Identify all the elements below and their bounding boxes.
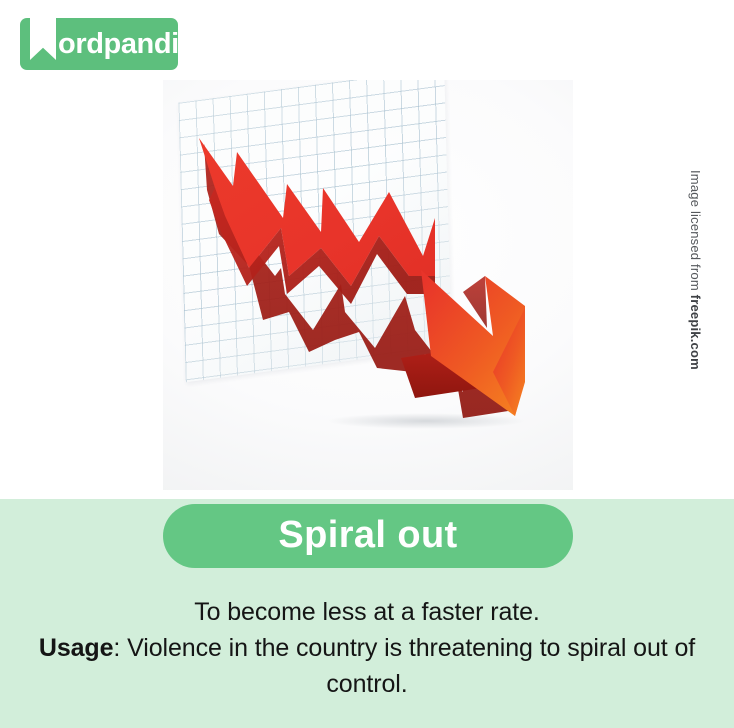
usage-label: Usage (39, 634, 114, 662)
image-credit-prefix: Image licensed from (688, 170, 703, 295)
definition-text-block: To become less at a faster rate. Usage: … (18, 594, 716, 702)
image-credit-source: freepik.com (688, 295, 703, 370)
illustration-declining-arrow (163, 80, 573, 490)
word-of-the-day-card: ordpandit Image licensed from freepik.co… (0, 0, 734, 728)
word-pill: Spiral out (163, 504, 573, 568)
definition-meaning: To become less at a faster rate. (18, 594, 716, 630)
definition-usage: Usage: Violence in the country is threat… (18, 630, 716, 702)
usage-separator: : (113, 634, 127, 662)
image-credit: Image licensed from freepik.com (688, 170, 703, 370)
usage-sentence: Violence in the country is threatening t… (127, 634, 695, 698)
definition-panel: Spiral out To become less at a faster ra… (0, 499, 734, 728)
word-title: Spiral out (278, 516, 457, 557)
wordpandit-logo[interactable]: ordpandit (20, 18, 178, 70)
declining-arrow-icon (163, 80, 573, 490)
logo-wordmark: ordpandit (58, 18, 188, 70)
bookmark-icon (30, 13, 56, 60)
